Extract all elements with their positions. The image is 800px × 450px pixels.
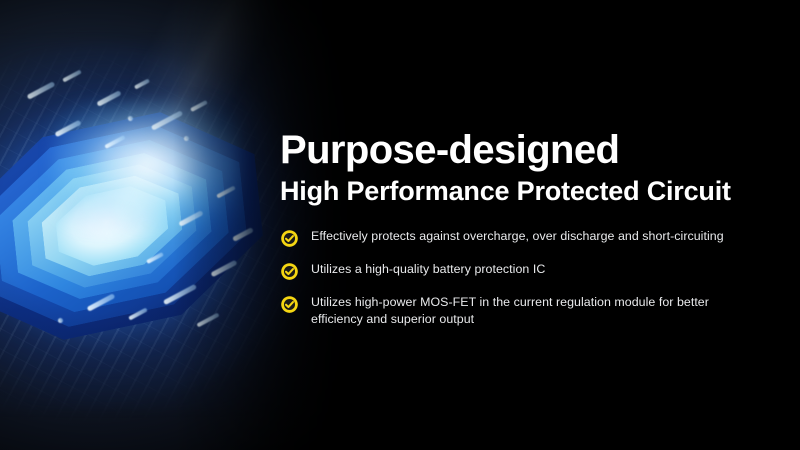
content-panel: Purpose-designed High Performance Protec… (280, 0, 800, 450)
check-circle-icon (280, 262, 299, 281)
feature-list: Effectively protects against overcharge,… (280, 228, 760, 341)
check-circle-icon (280, 295, 299, 314)
list-item-label: Effectively protects against overcharge,… (311, 228, 724, 245)
page-title: Purpose-designed (280, 130, 619, 170)
list-item-label: Utilizes a high-quality battery protecti… (311, 261, 545, 278)
check-circle-icon (280, 229, 299, 248)
list-item: Utilizes high-power MOS-FET in the curre… (280, 294, 760, 328)
list-item-label: Utilizes high-power MOS-FET in the curre… (311, 294, 749, 328)
list-item: Utilizes a high-quality battery protecti… (280, 261, 760, 281)
product-feature-slide: Purpose-designed High Performance Protec… (0, 0, 800, 450)
list-item: Effectively protects against overcharge,… (280, 228, 760, 248)
page-subtitle: High Performance Protected Circuit (280, 178, 731, 205)
